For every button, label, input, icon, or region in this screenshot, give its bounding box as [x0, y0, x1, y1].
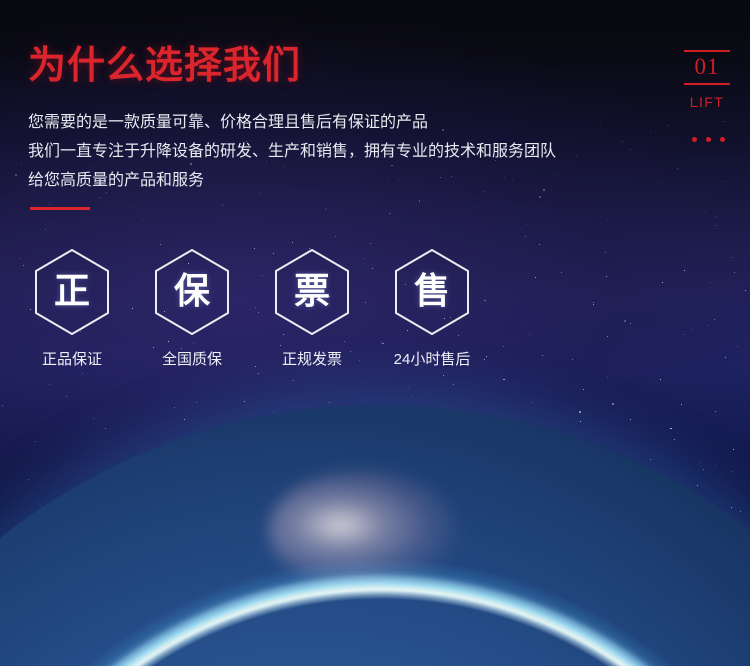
dot-icon: [706, 137, 711, 142]
badge-word: LIFT: [684, 93, 730, 111]
feature-glyph: 售: [414, 274, 450, 310]
lead-line-3: 给您高质量的产品和服务: [28, 166, 688, 195]
feature-glyph: 保: [174, 274, 210, 310]
lead-line-2: 我们一直专注于升降设备的研发、生产和销售，拥有专业的技术和服务团队: [28, 137, 688, 166]
section-number-badge: 01 LIFT: [684, 50, 730, 111]
badge-number: 01: [684, 52, 730, 83]
feature-item[interactable]: 正 正品保证: [28, 248, 116, 370]
badge-dots: [692, 137, 725, 142]
earth-limb-highlight: [0, 405, 750, 666]
earth-sphere: [0, 405, 750, 666]
feature-item[interactable]: 保 全国质保: [148, 248, 236, 370]
feature-list: 正 正品保证 保 全国质保 票 正规发票: [28, 248, 476, 370]
hexagon-icon: 正: [34, 248, 110, 336]
promo-banner: 为什么选择我们 您需要的是一款质量可靠、价格合理且售后有保证的产品 我们一直专注…: [0, 0, 750, 666]
lead-paragraph: 您需要的是一款质量可靠、价格合理且售后有保证的产品 我们一直专注于升降设备的研发…: [28, 108, 688, 195]
earth-cloud-layer: [0, 405, 750, 666]
hexagon-icon: 保: [154, 248, 230, 336]
dot-icon: [720, 137, 725, 142]
feature-item[interactable]: 票 正规发票: [268, 248, 356, 370]
badge-bottom-rule: [684, 83, 730, 85]
earth-atmosphere-glow: [0, 405, 750, 666]
feature-item[interactable]: 售 24小时售后: [388, 248, 476, 370]
sun-terminator-glow: [268, 470, 458, 590]
feature-caption: 全国质保: [148, 350, 236, 370]
feature-caption: 正品保证: [28, 350, 116, 370]
dot-icon: [692, 137, 697, 142]
hexagon-icon: 售: [394, 248, 470, 336]
lead-line-1: 您需要的是一款质量可靠、价格合理且售后有保证的产品: [28, 108, 688, 137]
page-title: 为什么选择我们: [28, 44, 301, 88]
hexagon-icon: 票: [274, 248, 350, 336]
feature-glyph: 票: [294, 274, 330, 310]
feature-caption: 24小时售后: [388, 350, 476, 370]
feature-glyph: 正: [54, 274, 90, 310]
feature-caption: 正规发票: [268, 350, 356, 370]
red-divider: [30, 207, 90, 210]
